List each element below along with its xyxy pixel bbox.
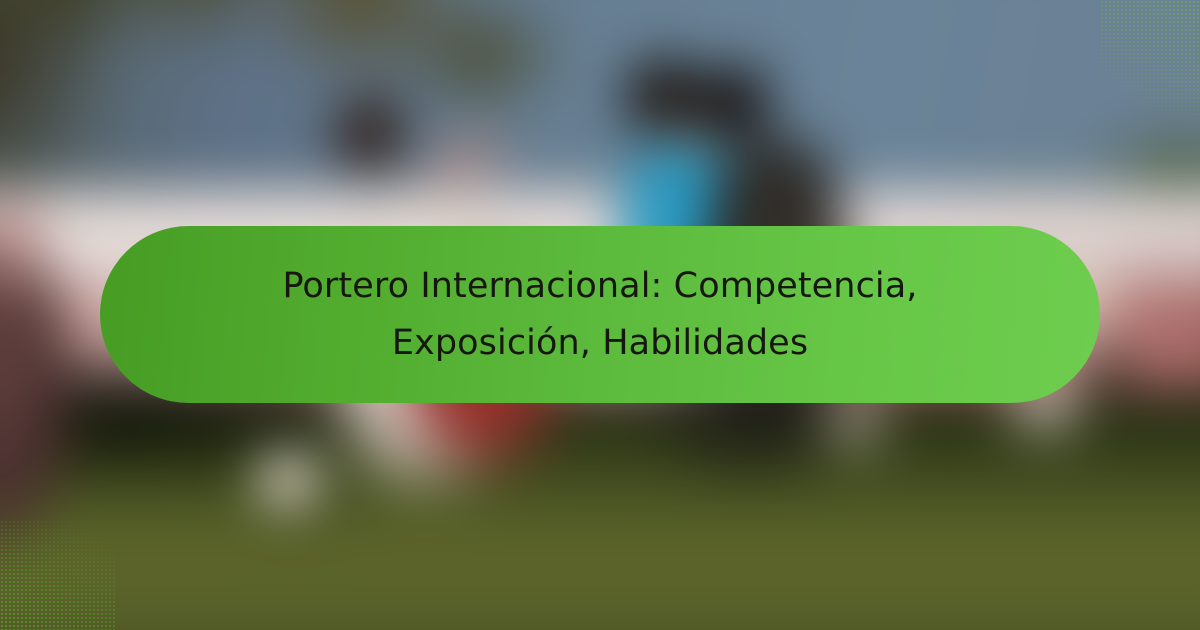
page-title: Portero Internacional: Competencia, Expo…: [282, 258, 917, 371]
share-card: Portero Internacional: Competencia, Expo…: [0, 0, 1200, 630]
title-banner: Portero Internacional: Competencia, Expo…: [100, 226, 1100, 403]
soccer-ball-icon: [258, 452, 320, 510]
player-figure-right-sock: [820, 395, 890, 455]
player-figure-left-head: [335, 95, 405, 175]
background-foliage-left: [0, 0, 620, 200]
